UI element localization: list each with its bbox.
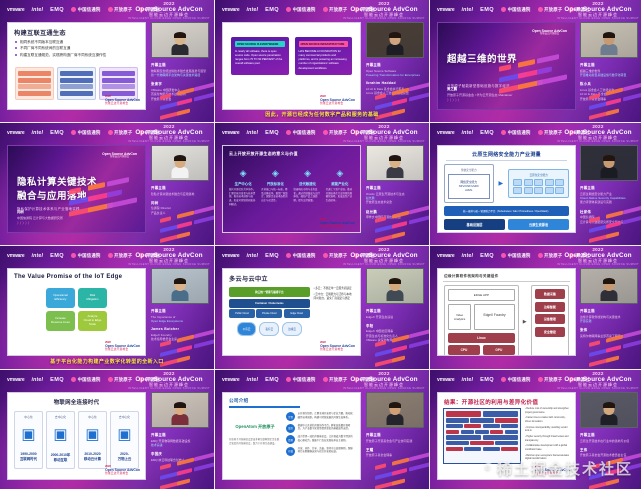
conference-brand: 2022Open Source AdvCon智能云边开源峰会INTELLIGEN… — [128, 371, 210, 391]
portrait-torso — [172, 414, 189, 425]
info-card: 去中心化▣2020- 万物上云 — [110, 411, 139, 469]
intel-logo: intel — [461, 377, 473, 383]
slide-brand-logo: 2022Open Source AdvCon智能云边开源峰会 — [105, 465, 140, 475]
speaker-affiliation: 甲骨文中国区开源技术总监 — [366, 215, 425, 219]
diagram-node — [60, 91, 93, 96]
speaker-name: 陈小兵 — [580, 81, 639, 86]
vmware-logo: vmware — [222, 7, 239, 13]
iot-network-icon: ▣ — [113, 427, 136, 442]
caict-logo: 中国信通院 — [501, 7, 530, 13]
deco-block — [160, 463, 171, 470]
cloud-icon: 边缘云 — [282, 322, 302, 336]
speaker-video-thumbnail[interactable] — [580, 145, 638, 181]
speaker-topic-line: 开源实践 — [580, 319, 639, 323]
diagram-node — [18, 91, 51, 96]
portrait-torso — [601, 290, 618, 301]
video-tile[interactable]: vmwareintelEMQ中国信通院开放原子开源社2022Open Sourc… — [0, 370, 214, 489]
hero-speaker-org: 中国信通院 云计算与大数据研究所 — [17, 216, 63, 221]
caict-logo-mark — [501, 377, 506, 382]
video-tile[interactable]: vmwareintelEMQ中国信通院开放原子开源社2022Open Sourc… — [0, 123, 214, 245]
video-tile[interactable]: vmwareintelEMQ中国信通院开放原子开源社2022Open Sourc… — [0, 246, 214, 369]
multicloud-note: • 多云：不绑定单一云服务商锁定 — [314, 287, 354, 291]
sponsor-name: vmware — [222, 253, 239, 259]
video-tile[interactable]: vmwareintelEMQ中国信通院开放原子开源社2022Open Sourc… — [430, 246, 641, 369]
deco-block — [375, 356, 402, 367]
portrait-hair — [603, 278, 615, 284]
deco-block — [589, 109, 616, 120]
slide-tile-6: 云原生网络安全能力产业测量传统安全能力网络安全能力 NFV/CNF/vSRX A… — [437, 145, 576, 233]
sponsor-name: 中国信通院 — [78, 377, 101, 383]
video-tile[interactable]: vmwareintelEMQ中国信通院开放原子开源社2022Open Sourc… — [430, 0, 641, 122]
deco-block — [375, 99, 404, 110]
speaker-video-thumbnail[interactable] — [366, 268, 424, 304]
speaker-portrait — [601, 403, 617, 425]
slide-hero-footer: 闫树中国信通院 云计算与大数据研究所〉〉〉〉〉 — [17, 210, 63, 226]
speaker-panel: 开幕主题云原生网络安全能力产业Cloud-Native Security Cap… — [577, 142, 641, 245]
intro-item: 价值开放、协作、共享、共赢，坚持中立治理原则，保障项目长期健康运营与社区开发者权… — [286, 447, 354, 456]
deco-block — [589, 356, 616, 367]
arch-bottom-row: 基础设施层云原生资源池 — [438, 219, 575, 230]
arch-right-item: 数据采集 — [535, 289, 565, 299]
panel-tag: OPEN SOURCE INFRASTRUCTURE — [299, 41, 349, 47]
multicloud-notes: • 多云：不绑定单一云服务商锁定• 云中立：云端能力可迁移与本地同时独立，避免厂… — [314, 287, 354, 336]
portrait-torso — [172, 44, 189, 55]
sponsor-name: EMQ — [50, 377, 64, 383]
speaker-affiliation: 开放原子基金会开源技术委员会主任 — [580, 453, 639, 457]
caict-logo: 中国信通院 — [71, 253, 100, 259]
multicloud-left: 跨云统一管理与编排平台Container / KubernetesPublic … — [229, 287, 310, 336]
slide-brand-sub: 智能云边开源峰会 — [320, 225, 355, 228]
slide-panel: OPEN SOURCE INFRASTRUCTUREHAS BECOME A F… — [295, 37, 353, 75]
video-tile[interactable]: vmwareintelEMQ中国信通院开放原子开源社2022Open Sourc… — [430, 370, 641, 489]
sponsor-name: intel — [461, 253, 473, 259]
chevron-row-icon: 〉〉〉〉〉 — [17, 221, 63, 226]
sponsor-name: 中国信通院 — [78, 253, 101, 259]
card-label: 2020- 万物上云 — [113, 452, 136, 461]
caict-logo-mark — [71, 130, 76, 135]
info-card: 中心化▣2010-2020 移动云计算 — [78, 411, 107, 469]
intro-item-body: 开放、协作、共享、共赢，坚持中立治理原则，保障项目长期健康运营与社区开发者权益。 — [298, 447, 354, 454]
openatom-logo-mark — [108, 7, 113, 12]
quad-cell: Analyze Cloud to Edge Scale — [78, 311, 107, 331]
deco-block — [392, 232, 405, 239]
speaker-portrait — [601, 279, 617, 301]
deco-block — [409, 462, 429, 471]
speaker-video-thumbnail[interactable] — [151, 392, 209, 428]
slide-panels: OPEN SOURCE IS EVERYWHEREIn nearly all s… — [223, 23, 360, 89]
deco-block — [606, 479, 619, 486]
speaker-topic-line: Open Edge Ecosystems — [151, 319, 210, 323]
dense-node — [483, 411, 518, 417]
deco-block — [392, 458, 409, 466]
speaker-video-thumbnail[interactable] — [580, 22, 638, 58]
speaker-video-thumbnail[interactable] — [151, 22, 209, 58]
openatom-logo-text: OpenAtom 开放原子 — [229, 424, 281, 430]
speaker-topic-block: 开幕主题EdgeX 开源生态演进 — [366, 308, 425, 319]
dense-node — [446, 424, 463, 429]
deco-block — [194, 215, 214, 224]
slide-tile-3: 超越三维的世界开放原子赋能新型基础设施与数字经济Open Source AdvC… — [437, 22, 576, 110]
sponsor-bar: vmwareintelEMQ中国信通院开放原子开源社2022Open Sourc… — [430, 0, 641, 19]
caict-logo-mark — [286, 7, 291, 12]
speaker-name: 杜家伟 — [580, 209, 639, 214]
video-tile[interactable]: vmwareintelEMQ中国信通院开放原子开源社2022Open Sourc… — [215, 0, 429, 122]
speaker-topic-block: 开幕主题Open Source SoftwarePowering Transfo… — [366, 62, 425, 77]
conference-brand: 2022Open Source AdvCon智能云边开源峰会INTELLIGEN… — [128, 247, 210, 267]
sponsor-name: EMQ — [265, 253, 279, 259]
panel-body: HAS BECOME A FOUNDATION for many commerc… — [299, 50, 349, 72]
sponsor-name: intel — [461, 377, 473, 383]
caict-logo: 中国信通院 — [286, 7, 315, 13]
arch-hex — [545, 179, 554, 186]
intel-logo: intel — [246, 7, 258, 13]
conference-brand: 2022Open Source AdvCon智能云边开源峰会INTELLIGEN… — [557, 247, 639, 267]
speaker-name-block: 张青宇VMware 中国研发中心首席架构师与技术战略顾问开放原子基金会 — [151, 81, 210, 101]
speaker-portrait — [172, 279, 188, 301]
icon-body: 快速响应市场与业务变化，通过持续集成与交付体系，缩短产品上线周期，提升交付质量。 — [293, 188, 323, 203]
hero-block — [69, 187, 81, 195]
arch-left-center: 网络安全能力 NFV/CNF/vSRX AI/ML — [448, 174, 490, 199]
diagram-node — [18, 71, 51, 76]
diagram-node — [60, 71, 93, 76]
intro-item-body: 以开源为纽带，汇聚全球开发者与企业力量，推动软硬件技术创新，构建可持续发展的开源… — [298, 412, 354, 419]
video-tile[interactable]: vmwareintelEMQ中国信通院开放原子开源社2022Open Sourc… — [215, 370, 429, 489]
speaker-name-block: 王耀开放原子基金会理事 — [366, 447, 425, 458]
speaker-name-block: 李阳EdgeX 中国社区理事开源生态与标准化负责人VMware 资深架构师 — [366, 323, 425, 343]
deco-block — [589, 463, 600, 470]
slide-tile-12: 结果：开源社区的利用与差异化价值› Reduce cost of ownersh… — [437, 392, 576, 480]
sponsor-name: 中国信通院 — [293, 253, 316, 259]
conference-subtitle-en: INTELLIGENT CLOUD-EDGE OPEN SOURCE SUMMI… — [343, 18, 425, 21]
openatom-logo-mark — [323, 253, 328, 258]
dense-note: › Higher security through broad review a… — [525, 436, 570, 443]
pen-write-icon: ◈ — [325, 169, 355, 178]
speaker-portrait — [387, 156, 403, 178]
video-tile[interactable]: vmwareintelEMQ中国信通院开放原子开源社2022Open Sourc… — [430, 123, 641, 245]
speaker-topic-label: 开幕主题 — [580, 62, 639, 67]
quad-cell: Operational Efficiency — [46, 288, 75, 308]
dense-row — [446, 424, 518, 429]
slide-title: 云原生网络安全能力产业测量 — [438, 146, 575, 160]
slide-icon-row: ◈生产中心化依托开源社区共享协作，汇聚全球开发者与技术资源，推动技术创新与演进，… — [223, 159, 360, 217]
deco-block — [606, 356, 619, 363]
arch-hex — [534, 179, 543, 186]
video-thumbnail-grid: vmwareintelEMQ中国信通院开放原子开源社2022Open Sourc… — [0, 0, 641, 489]
deco-block — [606, 345, 621, 353]
sponsor-name: vmware — [437, 7, 454, 13]
title-divider — [446, 160, 567, 161]
sponsor-name: vmware — [7, 130, 24, 136]
speaker-portrait — [172, 156, 188, 178]
dense-body: › Reduce cost of ownership and strengthe… — [438, 408, 575, 464]
openatom-logo-mark — [108, 253, 113, 258]
arch-hw: GPU — [483, 345, 515, 355]
icon-label: 生产中心化 — [228, 181, 258, 186]
deco-block — [160, 222, 189, 233]
deco-block — [589, 479, 616, 489]
multicloud-cell: Public Cloud — [229, 309, 255, 318]
speaker-portrait — [387, 403, 403, 425]
speaker-panel: 开幕主题Open Source SoftwarePowering Transfo… — [363, 19, 429, 122]
speaker-panel: 开幕主题The Importance ofOpen Edge Ecosystem… — [148, 265, 214, 369]
speaker-video-thumbnail[interactable] — [580, 268, 638, 304]
video-tile[interactable]: vmwareintelEMQ中国信通院开放原子开源社2022Open Sourc… — [215, 246, 429, 369]
slide-tile-5: 云上开放开放开源生态的意义与价值◈生产中心化依托开源社区共享协作，汇聚全球开发者… — [222, 145, 361, 233]
speaker-affiliation: 开放原子基金会理事 — [366, 453, 425, 457]
dense-node — [464, 447, 481, 452]
intel-logo: intel — [246, 377, 258, 383]
portrait-torso — [387, 167, 404, 178]
deco-block — [160, 216, 171, 223]
intro-item: 愿景成为世界一流的开源基金会，让开源成为数字经济的核心驱动力，赋能千行百业实现技… — [286, 435, 354, 444]
speaker-topic-block: 开幕主题超越三维的世界开源推动新型基础设施与数字化转型 — [580, 62, 639, 77]
vmware-logo: vmware — [7, 7, 24, 13]
deco-block — [375, 346, 404, 357]
sponsor-name: 中国信通院 — [508, 7, 531, 13]
speaker-name: 张伟 — [580, 327, 639, 332]
icon-label: 迭代敏捷化 — [293, 181, 323, 186]
dense-node — [490, 430, 503, 435]
speaker-video-thumbnail[interactable] — [366, 22, 424, 58]
video-tile[interactable]: vmwareintelEMQ中国信通院开放原子开源社2022Open Sourc… — [215, 123, 429, 245]
sponsor-bar: vmwareintelEMQ中国信通院开放原子开源社2022Open Sourc… — [430, 123, 641, 142]
emq-logo: EMQ — [50, 7, 64, 13]
arch-hex — [545, 187, 554, 194]
speaker-affiliation: Linux 基金会人工智能与数据总监 — [366, 91, 425, 95]
chevron-row-icon: 〉〉〉〉〉 — [447, 98, 512, 103]
speaker-topic-block: 开幕主题Oracle 云原生开源技术与生态赵长鹏开放原生态技术总监 — [366, 185, 425, 205]
multicloud-clouds: 公有云私有云边缘云 — [229, 322, 310, 336]
slide-title: 边缘计算软件栈架构与关键组件 — [438, 269, 575, 281]
deco-block — [392, 221, 407, 229]
dense-node — [505, 430, 518, 435]
intro-item-badge: 宗旨 — [286, 412, 295, 421]
icon-body: 打通上下游产业链，推动开源技术在行业场景的规模化落地，形成良性产业生态闭环。 — [325, 188, 355, 203]
arch-hw-row: CPUGPU — [448, 345, 515, 355]
speaker-topic-label: 开幕主题 — [151, 62, 210, 67]
dense-note: › Improve interoperability, avoiding ven… — [525, 427, 570, 434]
intel-logo: intel — [461, 7, 473, 13]
slide-tile-7: The Value Promise of the IoT EdgeOperati… — [7, 268, 146, 356]
deco-block — [392, 345, 407, 353]
multicloud-cell: Edge Cloud — [284, 309, 310, 318]
slide-tile-8: 多云与云中立跨云统一管理与编排平台Container / KubernetesP… — [222, 268, 361, 356]
slide-title: 公司介绍 — [223, 393, 360, 406]
slide-bullet: 构建互联互通规范，实现跨构造厂商不同系统互操作性 — [15, 52, 138, 58]
vmware-logo: vmware — [222, 377, 239, 383]
intel-logo: intel — [31, 7, 43, 13]
slide-brand-sub: 智能云边开源峰会 — [105, 472, 140, 475]
vmware-logo: vmware — [7, 253, 24, 259]
intro-item-badge: 价值 — [286, 447, 295, 456]
speaker-topic-line: 开源推动新型基础设施与数字化转型 — [580, 73, 639, 77]
video-tile[interactable]: vmwareintelEMQ中国信通院开放原子开源社2022Open Sourc… — [0, 0, 214, 122]
speaker-panel: 开幕主题EdgeX 开源生态演进李阳EdgeX 中国社区理事开源生态与标准化负责… — [363, 265, 429, 369]
sponsor-name: EMQ — [265, 7, 279, 13]
hero-block — [537, 66, 552, 74]
slide-brand-sub: 智能云边开源峰会 — [105, 102, 140, 105]
caict-logo: 中国信通院 — [501, 253, 530, 259]
caict-logo: 中国信通院 — [286, 253, 315, 259]
speaker-video-thumbnail[interactable] — [366, 145, 424, 181]
multicloud-top-bar: 跨云统一管理与编排平台 — [229, 287, 310, 297]
diagram-node — [18, 84, 51, 89]
dense-node — [483, 424, 500, 429]
hero-block — [537, 74, 567, 85]
slide-title: The Value Promise of the IoT Edge — [8, 269, 145, 282]
speaker-portrait — [172, 33, 188, 55]
slide-brand-logo: 2022Open Source AdvCon智能云边开源峰会 — [320, 341, 355, 351]
hero-block — [69, 207, 89, 216]
icon-body: 开放接口与统一标准，降低迁移成本，避免厂商锁定，保障企业技术选型的自主与灵活性。 — [260, 188, 290, 203]
arch-hex — [513, 187, 522, 194]
vmware-logo: vmware — [437, 130, 454, 136]
card-caption: 中心化 — [17, 415, 40, 419]
dense-node — [446, 447, 463, 452]
dense-row — [446, 418, 518, 423]
arch-right-item: 安全管控 — [535, 327, 565, 337]
slide-tile-4: 隐私计算关键技术融合与应用落地隐私保护计算技术体系与产业落地实践Open Sou… — [7, 145, 146, 233]
deco-block — [160, 479, 187, 489]
speaker-topic-label: 开幕主题 — [580, 308, 639, 313]
speaker-portrait — [387, 279, 403, 301]
sponsor-name: EMQ — [265, 377, 279, 383]
arch-main: 传统安全能力网络安全能力 NFV/CNF/vSRX AI/ML▶云原生安全能力 — [438, 164, 575, 203]
slide-brand-sub: 智能云边开源峰会 — [320, 348, 355, 351]
speaker-video-thumbnail[interactable] — [366, 392, 424, 428]
emq-logo: EMQ — [265, 7, 279, 13]
emq-logo: EMQ — [480, 130, 494, 136]
portrait-torso — [601, 44, 618, 55]
speaker-topic-label: 开幕主题 — [151, 308, 210, 313]
openatom-logo-mark — [323, 377, 328, 382]
diagram-node — [18, 78, 51, 83]
conference-brand: 2022Open Source AdvCon智能云边开源峰会INTELLIGEN… — [557, 371, 639, 391]
portrait-hair — [389, 155, 401, 161]
speaker-affiliation: EMQ 映云科技联合创始人 — [151, 458, 210, 462]
intel-logo: intel — [31, 253, 43, 259]
dense-row — [446, 430, 518, 435]
slide-title: 结果：开源社区的利用与差异化价值 — [438, 393, 575, 408]
sponsor-name: intel — [246, 253, 258, 259]
sponsor-name: EMQ — [480, 253, 494, 259]
conference-subtitle-en: INTELLIGENT CLOUD-EDGE OPEN SOURCE SUMMI… — [557, 264, 639, 267]
speaker-topic-line: 新一代物联网平台架构与关键技术路径 — [151, 73, 210, 77]
slide-title: 构建互联互通生态 — [8, 23, 145, 39]
deco-block — [606, 458, 623, 466]
cloud-lock-icon: ▣ — [81, 427, 104, 442]
emq-logo: EMQ — [50, 253, 64, 259]
speaker-portrait — [387, 33, 403, 55]
speaker-topic-block: 开幕主题开放原子开源基金会与产业协同实践 — [366, 432, 425, 443]
panel-tag: OPEN SOURCE IS EVERYWHERE — [235, 41, 285, 47]
deco-block — [375, 469, 404, 480]
deco-block — [194, 462, 214, 471]
slide-title: 云上开放开放开源生态的意义与价值 — [223, 146, 360, 159]
arch-hex-row — [512, 179, 565, 195]
sponsor-bar: vmwareintelEMQ中国信通院开放原子开源社2022Open Sourc… — [0, 246, 214, 265]
emq-logo: EMQ — [50, 130, 64, 136]
speaker-panel: 开幕主题边缘计算软件栈架构与关键技术开源实践张伟英特尔物联网事业部首席工程师 — [577, 265, 641, 369]
portrait-hair — [389, 402, 401, 408]
speaker-name: 李阳 — [366, 323, 425, 328]
speaker-video-thumbnail[interactable] — [151, 268, 209, 304]
card-label: 2000-2010年 移动互联 — [49, 452, 72, 462]
card-label: 1990-2000 互联网时代 — [17, 452, 40, 461]
speaker-name: 李国庆 — [151, 451, 210, 456]
quad-cell: Increase Revenue Lines — [46, 311, 75, 331]
arch-edgex-foundry: EdgeX Foundry — [474, 304, 515, 330]
speaker-video-thumbnail[interactable] — [151, 145, 209, 181]
sponsor-name: intel — [31, 253, 43, 259]
portrait-torso — [387, 414, 404, 425]
card-label: 2010-2020 移动云计算 — [81, 452, 104, 461]
speaker-topic-label: 开幕主题 — [366, 432, 425, 437]
caict-logo: 中国信通院 — [501, 130, 530, 136]
deco-block — [375, 479, 402, 489]
speaker-name-block: 张伟英特尔物联网事业部首席工程师 — [580, 327, 639, 338]
speaker-topic-line: 云原生开源技术在行业中的落地与价值 — [580, 439, 639, 443]
slide-title: 物联网全连接时代 — [8, 393, 145, 408]
openatom-logo-mark — [108, 377, 113, 382]
deco-block — [177, 479, 190, 486]
dense-node — [446, 418, 469, 423]
openatom-logo-mark — [323, 130, 328, 135]
intro-body: OpenAtom 开放原子开放原子开源基金会是由多家互联网领军企业联合发起的开源… — [223, 412, 360, 458]
title-divider — [229, 406, 300, 408]
deco-block — [623, 339, 641, 348]
lock-open-icon: ◈ — [260, 169, 290, 178]
deco-block — [589, 346, 618, 357]
conference-subtitle-en: INTELLIGENT CLOUD-EDGE OPEN SOURCE SUMMI… — [128, 264, 210, 267]
speaker-panel: 开幕主题隐私计算关键技术融合与应用落地闫树信通院 Director产品负责人 — [148, 142, 214, 245]
deco-block — [160, 232, 187, 243]
sponsor-name: vmware — [437, 253, 454, 259]
dense-node — [495, 441, 518, 446]
hero-block — [107, 177, 129, 187]
dense-row — [446, 435, 518, 440]
vmware-logo: vmware — [222, 130, 239, 136]
conference-brand: 2022Open Source AdvCon智能云边开源峰会INTELLIGEN… — [343, 247, 425, 267]
slide-tile-9: 边缘计算软件栈架构与关键组件EDGE APPVideo AnalyticsEdg… — [437, 268, 576, 356]
arch-right-item: 边缘智能 — [535, 302, 565, 312]
deco-block — [177, 221, 192, 229]
emq-logo: EMQ — [480, 253, 494, 259]
conference-subtitle-en: INTELLIGENT CLOUD-EDGE OPEN SOURCE SUMMI… — [128, 388, 210, 391]
speaker-topic-block: 开幕主题隐私计算关键技术融合与应用落地 — [151, 185, 210, 196]
hero-brand-logo: Open Source AdvCon智能云边开源峰会 — [102, 152, 137, 159]
multicloud-note: • 云中立：云端能力可迁移与本地同时独立，避免厂商锁定与绑定 — [314, 293, 354, 301]
speaker-topic-label: 开幕主题 — [151, 185, 210, 190]
sponsor-name: intel — [461, 130, 473, 136]
deco-block — [589, 232, 616, 243]
hero-speaker-org: 开放原子开源基金会 / 华为云开源生态 Maintainer — [447, 93, 512, 98]
intro-items: 宗旨以开源为纽带，汇聚全球开发者与企业力量，推动软硬件技术创新，构建可持续发展的… — [286, 412, 354, 458]
icon-column: ◈迭代敏捷化快速响应市场与业务变化，通过持续集成与交付体系，缩短产品上线周期，提… — [293, 169, 323, 207]
slide-tile-10: 物联网全连接时代中心化▣1990-2000 互联网时代去中心化▣2000-201… — [7, 392, 146, 480]
arch-hw: CPU — [448, 345, 480, 355]
portrait-hair — [174, 32, 186, 38]
caict-logo-mark — [286, 253, 291, 258]
hero-block — [499, 64, 511, 72]
emq-logo: EMQ — [480, 377, 494, 383]
speaker-name-block: Ibrahim HaddadLF AI & Data 基金会执行董事Linux … — [366, 81, 425, 95]
speaker-topic-label: 开幕主题 — [580, 432, 639, 437]
speaker-topic-label: 开幕主题 — [580, 185, 639, 190]
speaker-video-thumbnail[interactable] — [580, 392, 638, 428]
arch-left-block: 传统安全能力网络安全能力 NFV/CNF/vSRX AI/ML — [444, 164, 494, 203]
hero-block — [518, 59, 535, 68]
